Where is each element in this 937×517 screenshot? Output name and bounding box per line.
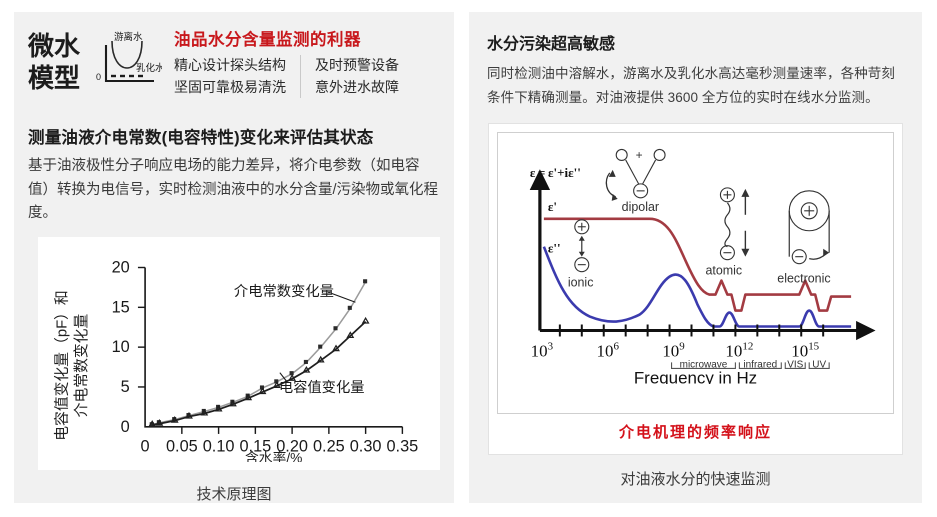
right-panel-caption: 对油液水分的快速监测 (469, 455, 922, 503)
series-epsilon-real (544, 219, 851, 311)
section-title: 测量油液介电常数(电容特性)变化来评估其状态 (28, 124, 440, 148)
svg-text:5: 5 (121, 378, 130, 396)
brand-mark-origin-label: 0 (96, 72, 101, 82)
series-capacitance-line (152, 321, 365, 424)
svg-text:0.35: 0.35 (386, 437, 418, 455)
svg-text:106: 106 (597, 340, 620, 360)
series-capacitance-markers (149, 318, 368, 426)
feature-item: 精心设计探头结构 (174, 55, 286, 77)
brand-name-line1: 微水 (28, 30, 80, 62)
spectrum-label-epsilon-imag: ε'' (548, 241, 561, 256)
capacitance-chart: 电容值变化量（pF）和 介电常数变化量 20 15 10 5 0 (44, 243, 432, 463)
section-body: 基于油液极性分子响应电场的能力差异，将介电参数（如电容值）转换为电信号，实时检测… (28, 155, 440, 225)
chart-yticklabels: 20 15 10 5 0 (112, 258, 130, 435)
micro-water-model-icon: 0 游离水 乳化水 (90, 31, 162, 93)
spectrum-xticklabels: 103 106 109 1012 1015 (531, 340, 820, 360)
spectrum-xlabel: Frequency in Hz (634, 368, 757, 384)
series-dielectric-constant-line (152, 282, 365, 425)
svg-text:+: + (636, 148, 643, 162)
svg-text:20: 20 (112, 258, 130, 276)
spectrum-title: ε = ε'+iε'' (530, 165, 581, 180)
left-panel-header: 微水 模型 0 游离水 (14, 12, 454, 108)
chart-ylabel-line2: 介电常数变化量 (73, 313, 90, 417)
left-header-text: 油品水分含量监测的利器 精心设计探头结构 坚固可靠极易清洗 及时预警设备 意外进… (172, 26, 444, 98)
label-electronic: electronic (777, 272, 830, 286)
feature-grid: 精心设计探头结构 坚固可靠极易清洗 及时预警设备 意外进水故障 (174, 55, 444, 98)
right-panel-body: 同时检测油中溶解水，游离水及乳化水高达毫秒测量速率，各种苛刻条件下精确测量。对油… (487, 62, 904, 110)
feature-item: 及时预警设备 (315, 55, 399, 77)
dielectric-spectrum-chart: ε = ε'+iε'' ε' ε'' (500, 135, 891, 384)
right-panel-title: 水分污染超高敏感 (487, 30, 904, 54)
left-panel-body: 测量油液介电常数(电容特性)变化来评估其状态 基于油液极性分子响应电场的能力差异… (14, 110, 454, 225)
svg-text:15: 15 (112, 298, 130, 316)
svg-text:103: 103 (531, 340, 554, 360)
feature-item: 意外进水故障 (315, 77, 399, 99)
label-dipolar: dipolar (622, 200, 659, 214)
svg-text:0.25: 0.25 (313, 437, 345, 455)
electronic-mechanism-icon (789, 191, 829, 264)
right-panel-header: 水分污染超高敏感 同时检测油中溶解水，游离水及乳化水高达毫秒测量速率，各种苛刻条… (469, 12, 922, 110)
svg-text:0.10: 0.10 (203, 437, 235, 455)
chart-ytick-marks (138, 267, 145, 386)
ionic-mechanism-icon (575, 220, 589, 272)
chart-xlabel: 含水率/% (245, 449, 302, 462)
svg-text:1015: 1015 (791, 340, 819, 360)
svg-text:10: 10 (112, 338, 130, 356)
svg-text:UV: UV (812, 359, 826, 370)
spectrum-label-epsilon-real: ε' (548, 199, 557, 214)
svg-text:0.30: 0.30 (350, 437, 382, 455)
svg-text:1012: 1012 (725, 340, 753, 360)
left-panel-caption: 技术原理图 (14, 470, 454, 517)
svg-text:0.05: 0.05 (166, 437, 198, 455)
dielectric-diagram-caption: 介电机理的频率响应 (497, 414, 894, 446)
feature-column-1: 精心设计探头结构 坚固可靠极易清洗 (174, 55, 300, 98)
svg-text:0: 0 (141, 437, 150, 455)
feature-column-2: 及时预警设备 意外进水故障 (300, 55, 399, 98)
left-headline: 油品水分含量监测的利器 (174, 26, 444, 50)
brand-mark-top-label: 游离水 (114, 31, 143, 43)
page-root: 微水 模型 0 游离水 (0, 0, 937, 517)
series-dielectric-constant-markers (150, 279, 367, 426)
svg-text:0: 0 (121, 418, 130, 436)
brand-mark-side-label: 乳化水 (136, 62, 162, 74)
capacitance-chart-card: 电容值变化量（pF）和 介电常数变化量 20 15 10 5 0 (38, 237, 440, 471)
dipolar-mechanism-icon: + (606, 148, 665, 201)
label-ionic: ionic (568, 276, 594, 290)
svg-text:VIS: VIS (787, 359, 803, 370)
right-panel: 水分污染超高敏感 同时检测油中溶解水，游离水及乳化水高达毫秒测量速率，各种苛刻条… (469, 12, 922, 503)
annotation-dielectric-constant: 介电常数变化量 (234, 283, 334, 300)
svg-text:109: 109 (662, 340, 685, 360)
dielectric-spectrum-card: ε = ε'+iε'' ε' ε'' (488, 123, 903, 455)
label-atomic: atomic (705, 264, 742, 278)
atomic-mechanism-icon (720, 188, 749, 260)
chart-ylabel-line1: 电容值变化量（pF）和 (53, 290, 70, 440)
dielectric-spectrum-frame: ε = ε'+iε'' ε' ε'' (497, 132, 894, 414)
chart-xtick-marks (182, 427, 403, 434)
left-panel: 微水 模型 0 游离水 (14, 12, 454, 503)
feature-item: 坚固可靠极易清洗 (174, 77, 286, 99)
brand-name-line2: 模型 (28, 62, 80, 94)
annotation-capacitance: 电容值变化量 (279, 379, 365, 396)
brand-name: 微水 模型 (28, 30, 80, 94)
